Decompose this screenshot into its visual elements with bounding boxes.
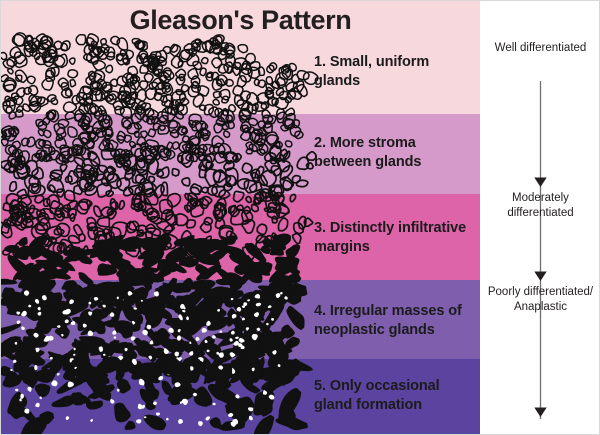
- band-label-5: 5. Only occasional gland formation: [314, 377, 474, 415]
- scale-label-poorly: Poorly differentiated/ Anaplastic: [480, 285, 600, 316]
- differentiation-scale: Well differentiated Moderately different…: [480, 1, 600, 435]
- band-label-1: 1. Small, uniform glands: [314, 53, 474, 91]
- band-label-3: 3. Distinctly infiltrative margins: [314, 219, 474, 257]
- scale-label-well: Well differentiated: [480, 41, 600, 56]
- band-label-4: 4. Irregular masses of neoplastic glands: [314, 302, 474, 340]
- gleason-pattern-diagram: Gleason's Pattern 1. Small, uniform glan…: [0, 0, 600, 435]
- page-title: Gleason's Pattern: [1, 5, 480, 36]
- scale-label-moderately: Moderately differentiated: [480, 191, 600, 222]
- band-label-2: 2. More stroma between glands: [314, 134, 474, 172]
- pattern-bands: Gleason's Pattern 1. Small, uniform glan…: [1, 1, 480, 435]
